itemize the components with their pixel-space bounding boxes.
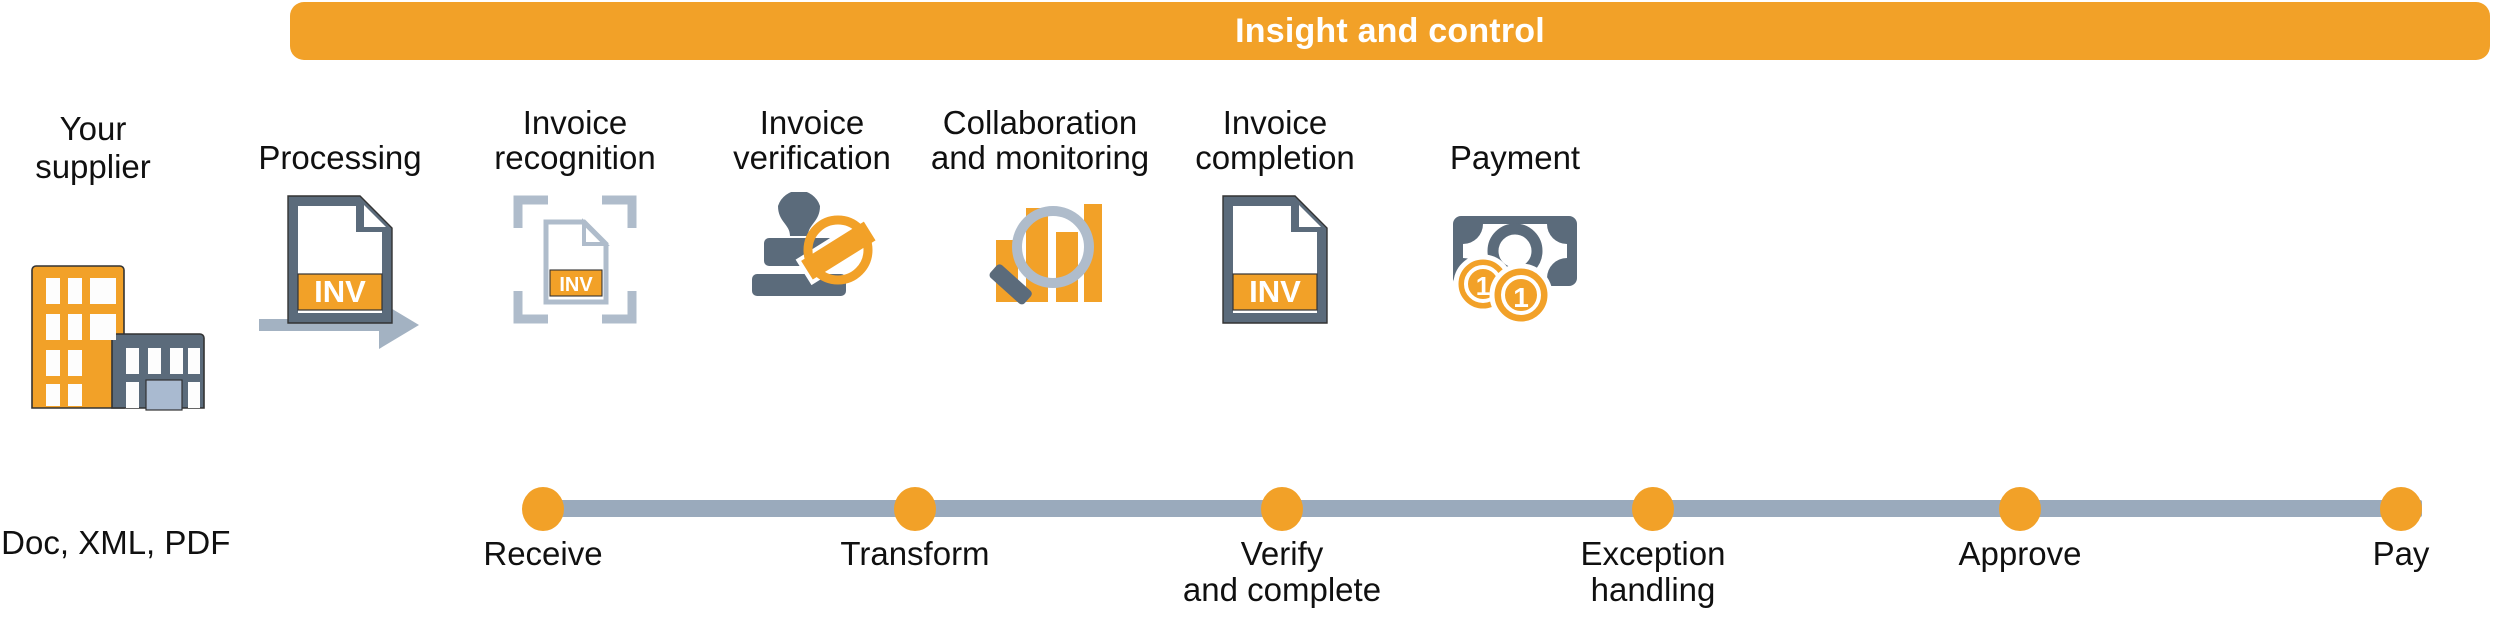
label-line2: and complete [1132, 572, 1432, 608]
supplier-formats-label: IDoc, XML, PDF [0, 524, 182, 562]
label-line1: Receive [393, 536, 693, 572]
diagram-canvas: Insight and control Your supplier [0, 0, 2496, 627]
label-line1: Exception [1503, 536, 1803, 572]
svg-text:INV: INV [559, 274, 593, 296]
label-line1: Verify [1132, 536, 1432, 572]
step-title: Payment [1375, 100, 1655, 176]
step-invoice-completion: Invoice completion INV [1135, 100, 1415, 324]
step-title-line2: completion [1135, 140, 1415, 176]
timeline-node-approve[interactable] [1999, 487, 2041, 531]
office-buildings-icon [30, 252, 210, 412]
step-title: Invoice completion [1135, 100, 1415, 176]
timeline-track [540, 500, 2422, 517]
banknote-coins-icon: 1 1 [1375, 194, 1655, 324]
timeline-node-transform[interactable] [894, 487, 936, 531]
svg-text:INV: INV [314, 274, 366, 309]
step-title-line1: Payment [1375, 140, 1655, 176]
timeline-label-receive: Receive [393, 536, 693, 572]
timeline-node-receive[interactable] [522, 487, 564, 531]
svg-text:1: 1 [1513, 282, 1529, 313]
timeline-label-approve: Approve [1870, 536, 2170, 572]
timeline-label-exception: Exception handling [1503, 536, 1803, 607]
label-line1: Pay [2251, 536, 2496, 572]
timeline-label-transform: Transform [765, 536, 1065, 572]
svg-text:INV: INV [1249, 274, 1301, 309]
invoice-document-icon: INV [1135, 194, 1415, 324]
label-line1: Approve [1870, 536, 2170, 572]
step-payment: Payment 1 1 [1375, 100, 1655, 324]
timeline-label-pay: Pay [2251, 536, 2496, 572]
label-line1: Transform [765, 536, 1065, 572]
step-title-line1: Invoice [1135, 105, 1415, 141]
banner-title: Insight and control [1235, 12, 1545, 51]
timeline-node-verify[interactable] [1261, 487, 1303, 531]
svg-text:1: 1 [1476, 271, 1490, 301]
timeline-node-exception[interactable] [1632, 487, 1674, 531]
timeline-node-pay[interactable] [2380, 487, 2422, 531]
timeline-label-verify: Verify and complete [1132, 536, 1432, 607]
label-line2: handling [1503, 572, 1803, 608]
insight-and-control-banner: Insight and control [290, 2, 2490, 60]
supplier-label: Your supplier [8, 110, 178, 186]
